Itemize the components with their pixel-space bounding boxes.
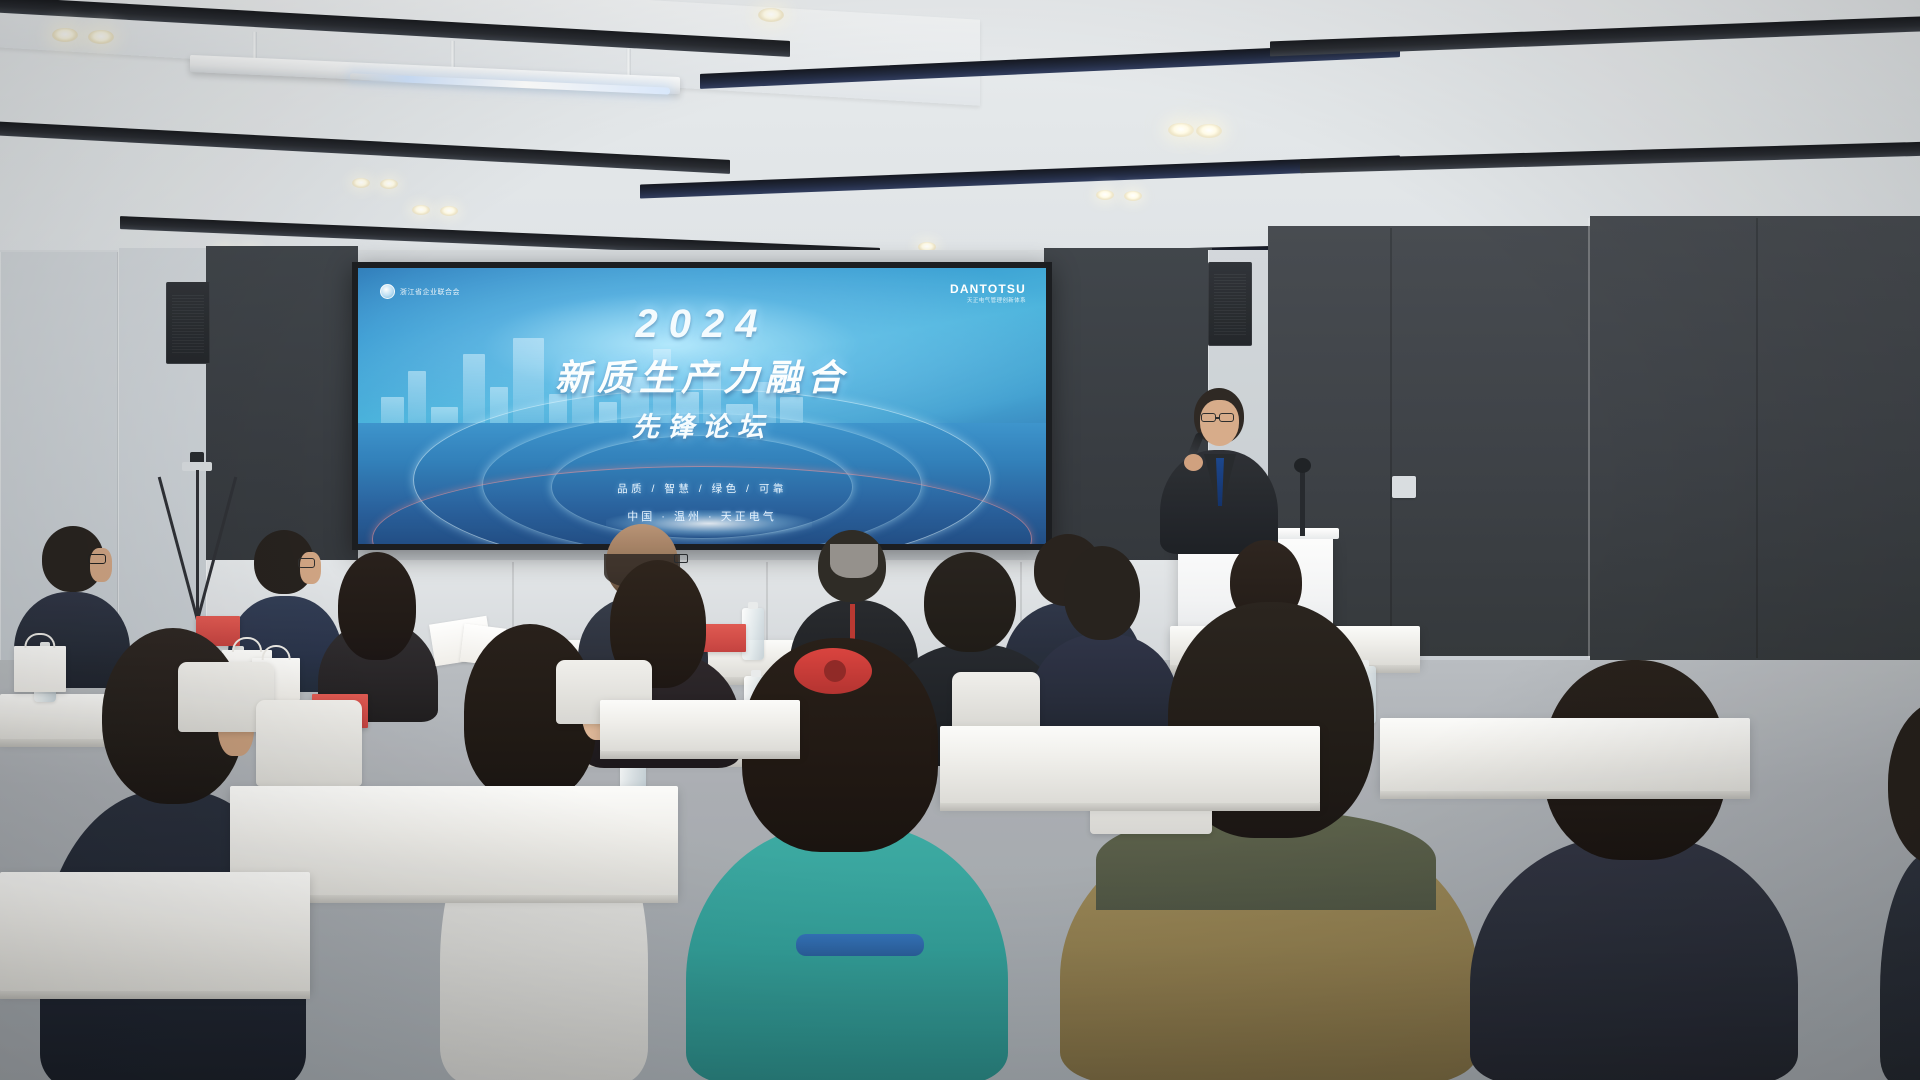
table-foreground	[0, 872, 310, 992]
mic-stand	[1300, 466, 1305, 536]
slide-title-line1: 新质生产力融合	[555, 349, 849, 401]
audience-member	[1880, 700, 1920, 1080]
presenter-face	[1200, 400, 1239, 446]
lanyard	[850, 604, 855, 640]
ceiling-spotlight	[88, 30, 114, 44]
wall-dark-panel	[1590, 216, 1920, 662]
ceiling-spotlight	[380, 179, 398, 189]
table-foreground	[940, 726, 1320, 804]
ceiling-spotlight	[1096, 190, 1114, 200]
ceiling-spotlight	[52, 28, 78, 42]
chair	[952, 672, 1040, 732]
presenter	[1160, 388, 1280, 548]
wall-speaker-left	[166, 282, 210, 364]
wall-speaker-right	[1208, 262, 1252, 346]
ceiling-track-4	[0, 120, 730, 174]
conference-room-photo: 浙江省企业联合会 DANTOTSU 天正电气管理创新体系 2024 新质生产力融…	[0, 0, 1920, 1080]
ceiling-track-3	[1270, 15, 1920, 57]
ceiling-spotlight	[1196, 124, 1222, 138]
collar-stripe	[796, 934, 924, 956]
ceiling-spotlight	[440, 206, 458, 216]
ceiling-spotlight	[758, 8, 784, 22]
ceiling-spotlight	[412, 205, 430, 215]
led-presentation-screen: 浙江省企业联合会 DANTOTSU 天正电气管理创新体系 2024 新质生产力融…	[352, 262, 1052, 550]
mic-head-icon	[1294, 458, 1311, 473]
slide-year: 2024	[636, 302, 769, 347]
audience-member	[318, 552, 440, 712]
slide-slogan: 品质 / 智慧 / 绿色 / 可靠	[358, 481, 1046, 496]
audience-member-foreground	[1060, 602, 1480, 1080]
ceiling-spotlight	[352, 178, 370, 188]
chair	[256, 700, 362, 786]
glasses-icon	[1219, 413, 1234, 422]
camera-tripod	[168, 462, 226, 620]
ceiling-spotlight	[1124, 191, 1142, 201]
table-foreground	[1380, 718, 1750, 792]
glasses-icon	[1201, 413, 1216, 422]
wall-outlet-plate	[1392, 476, 1416, 498]
slide-content: 浙江省企业联合会 DANTOTSU 天正电气管理创新体系 2024 新质生产力融…	[358, 268, 1046, 544]
table-foreground	[600, 700, 800, 752]
ceiling-track-5	[640, 155, 1400, 198]
ceiling-spotlight	[1168, 123, 1194, 137]
slide-title-line2: 先锋论坛	[632, 405, 772, 444]
presenter-hand	[1184, 454, 1203, 471]
slide-location: 中国 · 温州 · 天正电气	[358, 508, 1046, 524]
ceiling-track-6	[1300, 141, 1920, 173]
